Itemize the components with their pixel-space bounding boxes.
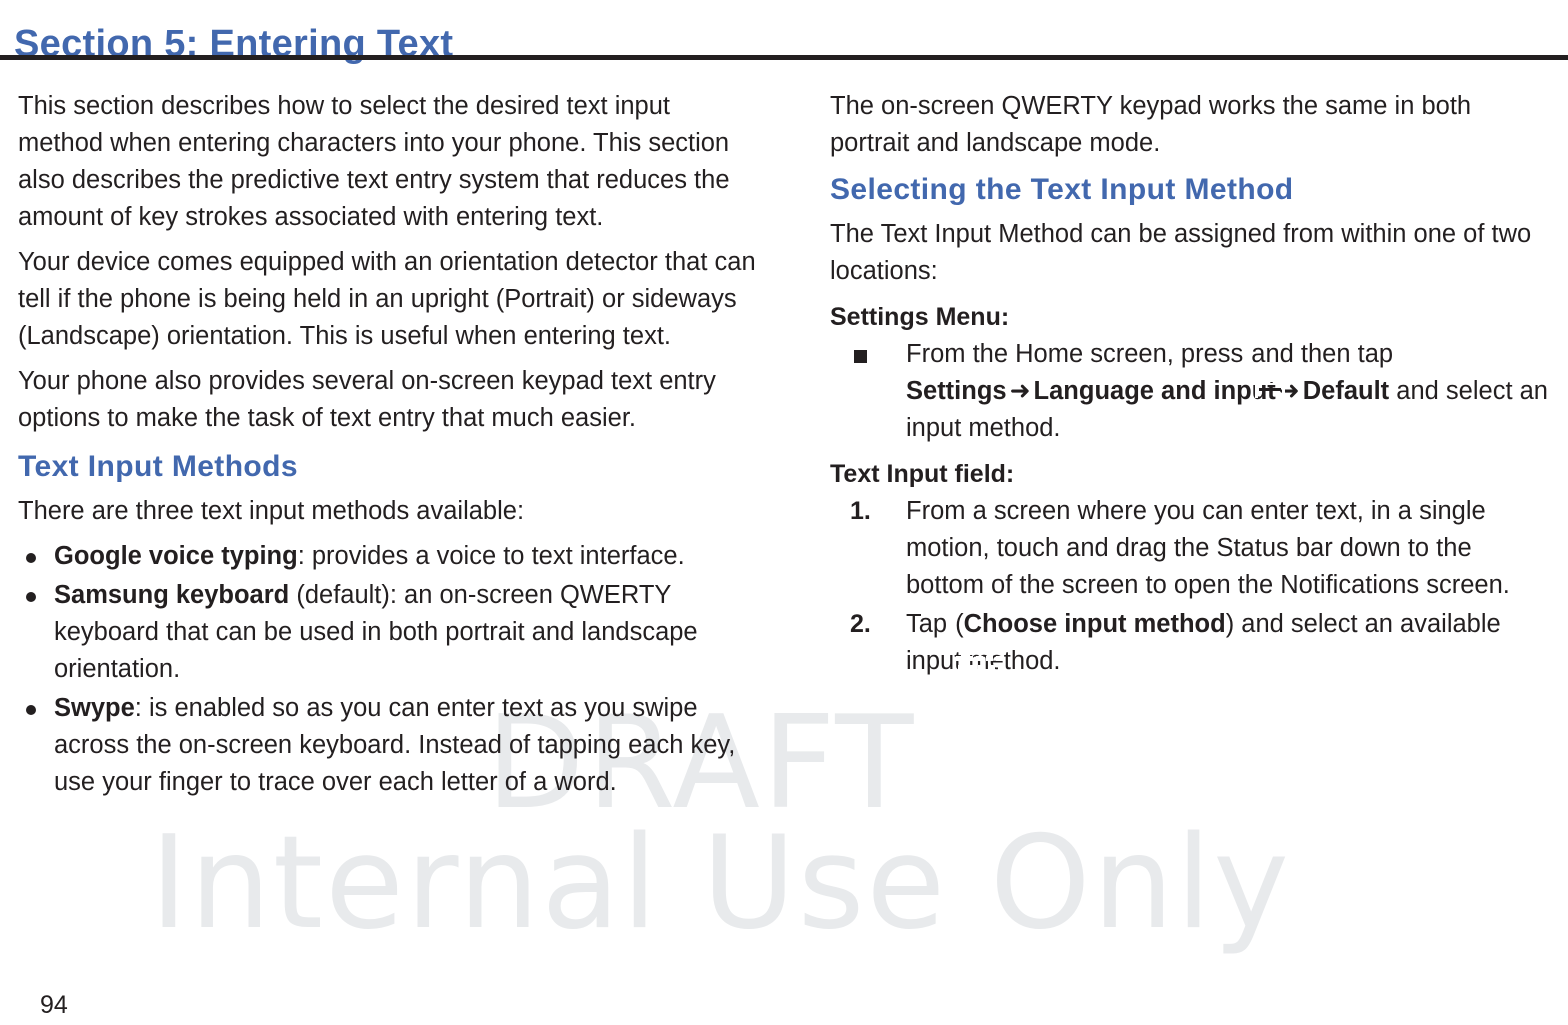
right-column: The on-screen QWERTY keypad works the sa… <box>830 88 1552 682</box>
paren-open: ( <box>955 610 964 638</box>
page-number: 94 <box>40 990 68 1020</box>
method-description: : is enabled so as you can enter text as… <box>54 694 735 796</box>
arrow-right-icon: ➜ <box>1007 377 1034 405</box>
step-middle-text: and then tap <box>1251 340 1393 368</box>
list-item: 2.Tap(Choose input method) and select an… <box>830 606 1552 680</box>
list-item: 1.From a screen where you can enter text… <box>830 493 1552 604</box>
method-name: Samsung keyboard <box>54 581 289 609</box>
intro-paragraph-2: Your device comes equipped with an orien… <box>18 244 758 355</box>
paren-close: ) <box>1226 610 1235 638</box>
document-page: Section 5: Entering Text This section de… <box>0 0 1568 1025</box>
step-number: 1. <box>850 493 871 530</box>
list-item: Google voice typing: provides a voice to… <box>18 538 758 575</box>
settings-menu-step-list: From the Home screen, pressand then tap … <box>830 336 1552 447</box>
list-item: Samsung keyboard (default): an on-screen… <box>18 577 758 688</box>
list-item: Swype: is enabled so as you can enter te… <box>18 690 758 801</box>
intro-paragraph-3: Your phone also provides several on-scre… <box>18 363 758 437</box>
method-description: : provides a voice to text interface. <box>298 542 685 570</box>
heading-text-input-methods: Text Input Methods <box>18 447 758 487</box>
step-text: From a screen where you can enter text, … <box>906 497 1510 599</box>
subheading-settings-menu: Settings Menu: <box>830 300 1552 334</box>
text-input-methods-list: Google voice typing: provides a voice to… <box>18 538 758 801</box>
breadcrumb-language-and-input: Language and input <box>1034 377 1276 405</box>
left-column: This section describes how to select the… <box>18 88 758 803</box>
list-item: From the Home screen, pressand then tap … <box>830 336 1552 447</box>
bullet-dot-icon <box>26 592 36 602</box>
text-input-field-step-list: 1.From a screen where you can enter text… <box>830 493 1552 680</box>
title-divider-rule <box>0 55 1568 60</box>
method-name: Google voice typing <box>54 542 298 570</box>
breadcrumb-settings: Settings <box>906 377 1007 405</box>
page-title: Section 5: Entering Text <box>14 23 453 66</box>
bullet-dot-icon <box>26 553 36 563</box>
step-prefix-text: Tap <box>906 610 947 638</box>
breadcrumb-default: Default <box>1303 377 1389 405</box>
bullet-dot-icon <box>26 705 36 715</box>
step-prefix-text: From the Home screen, press <box>906 340 1243 368</box>
step-number: 2. <box>850 606 871 643</box>
choose-input-method-label: Choose input method <box>964 610 1226 638</box>
selecting-method-lead-in: The Text Input Method can be assigned fr… <box>830 216 1552 290</box>
heading-selecting-text-input-method: Selecting the Text Input Method <box>830 170 1552 210</box>
bullet-square-icon <box>854 350 867 363</box>
text-input-methods-lead-in: There are three text input methods avail… <box>18 493 758 530</box>
subheading-text-input-field: Text Input field: <box>830 457 1552 491</box>
right-top-paragraph: The on-screen QWERTY keypad works the sa… <box>830 88 1552 162</box>
method-name: Swype <box>54 694 135 722</box>
intro-paragraph-1: This section describes how to select the… <box>18 88 758 236</box>
